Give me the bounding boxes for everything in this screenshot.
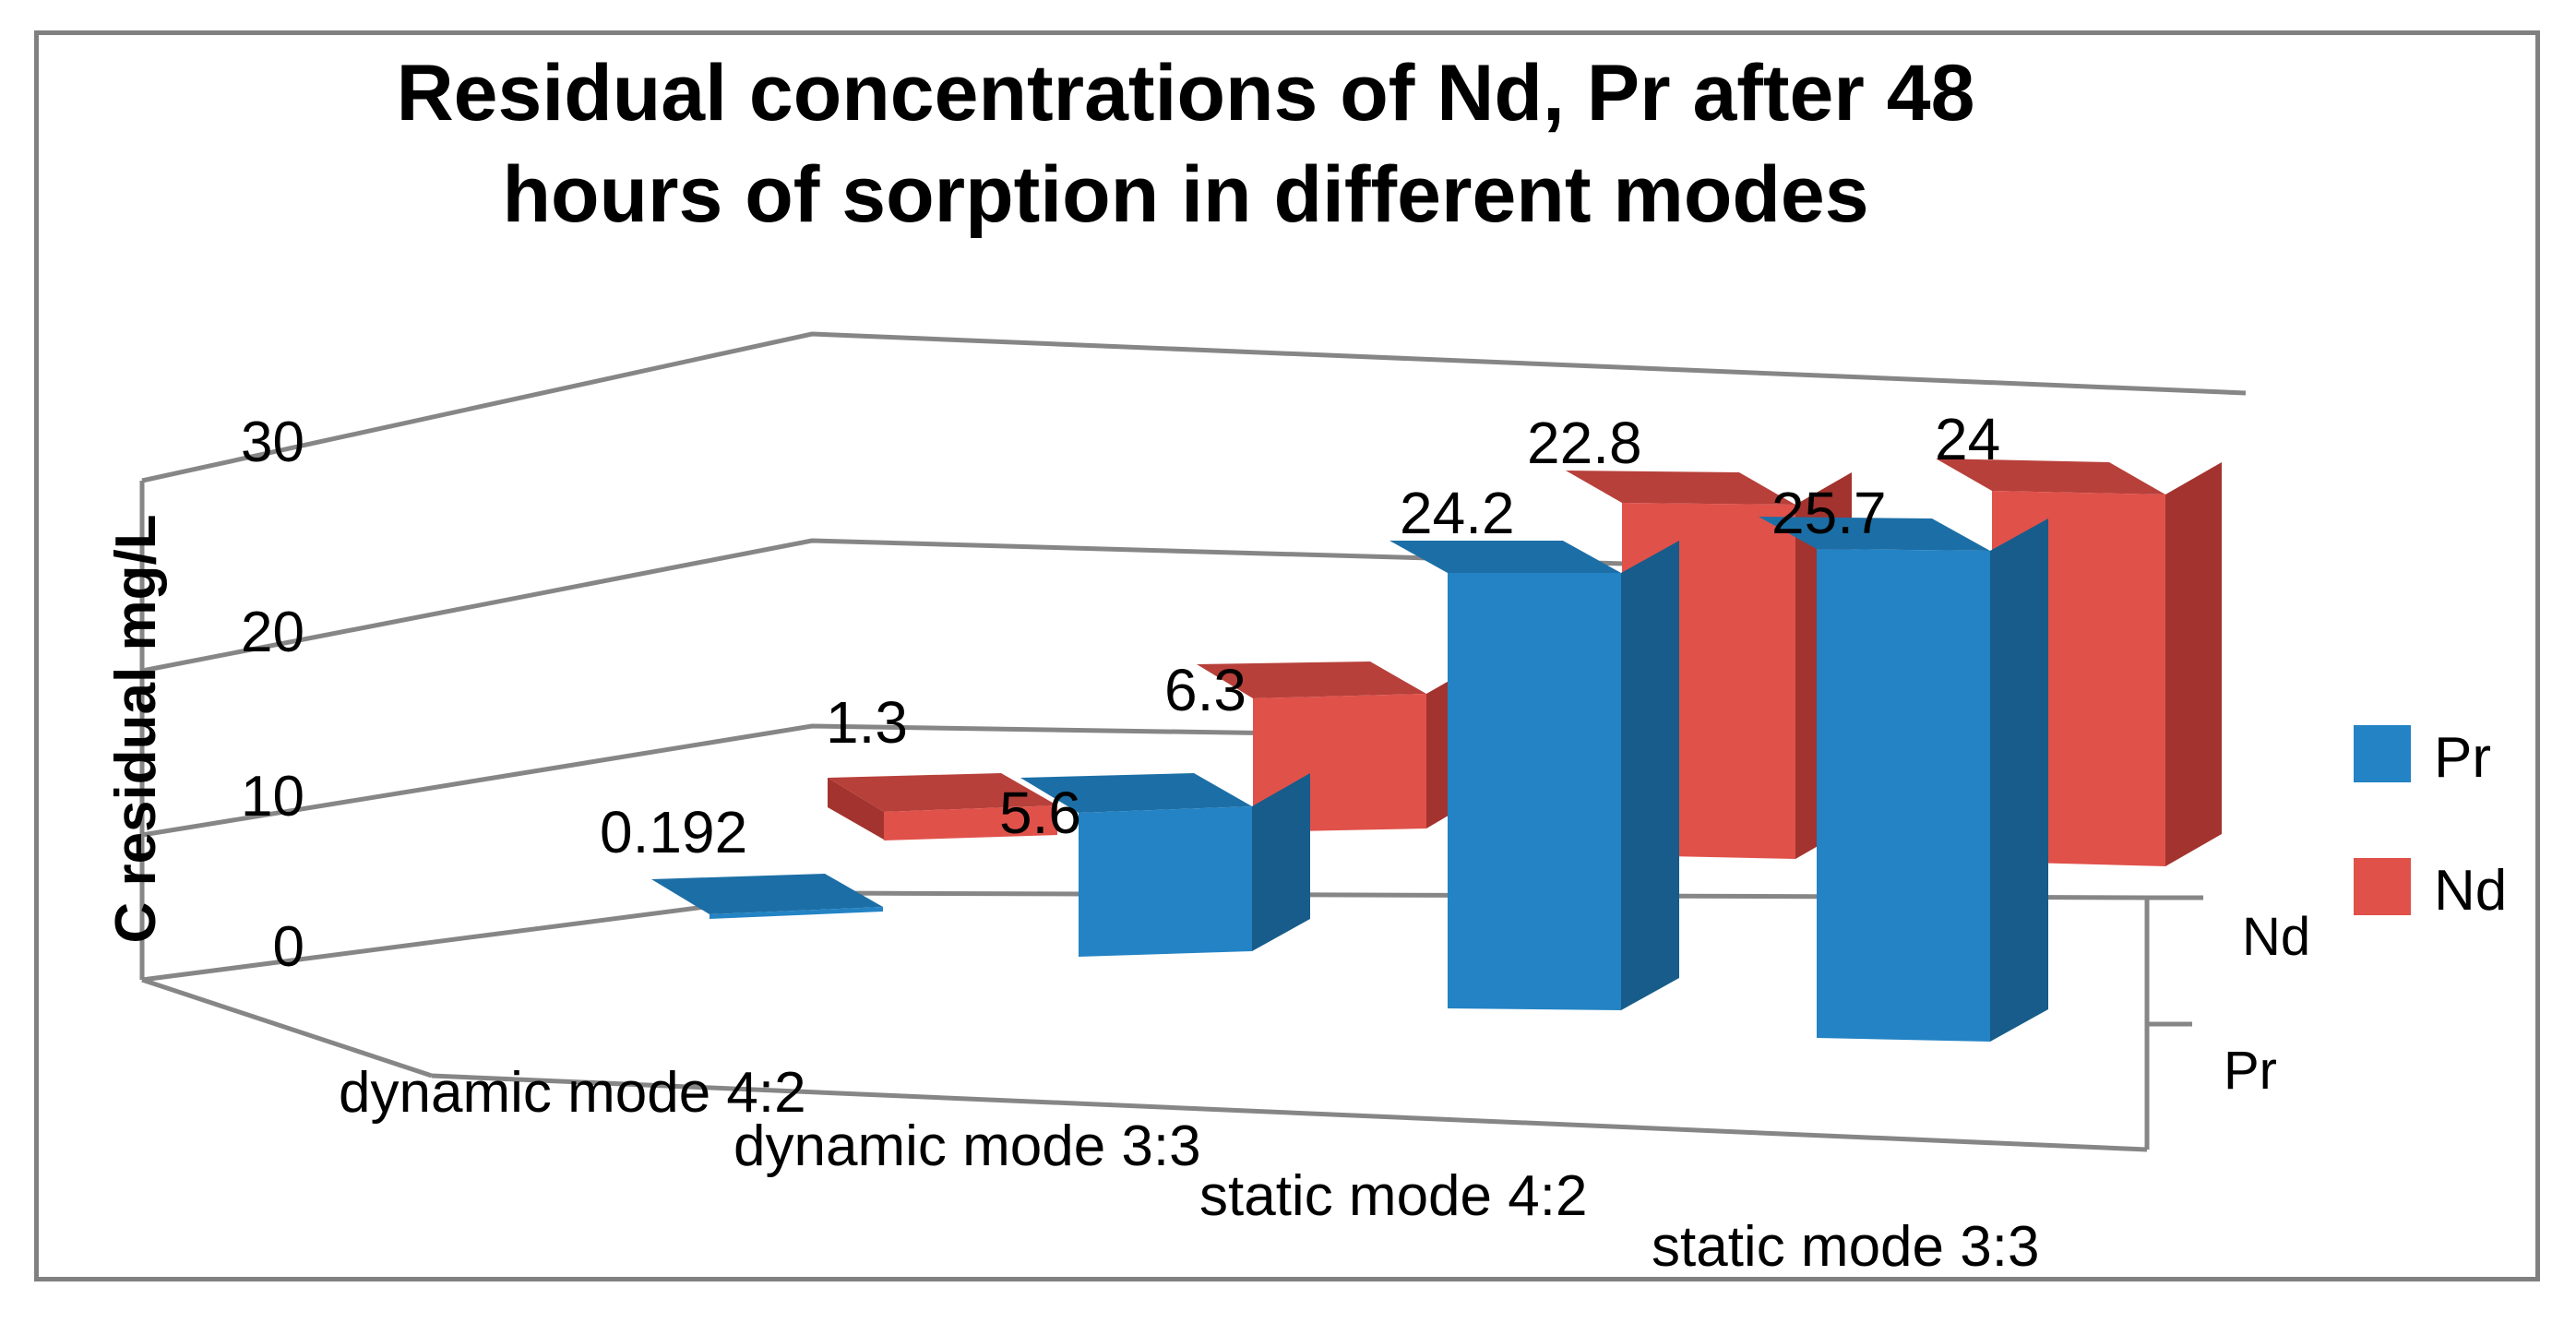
chart-screenshot: Residual concentrations of Nd, Pr after … bbox=[0, 0, 2576, 1323]
chart-area-frame bbox=[34, 30, 2540, 1281]
